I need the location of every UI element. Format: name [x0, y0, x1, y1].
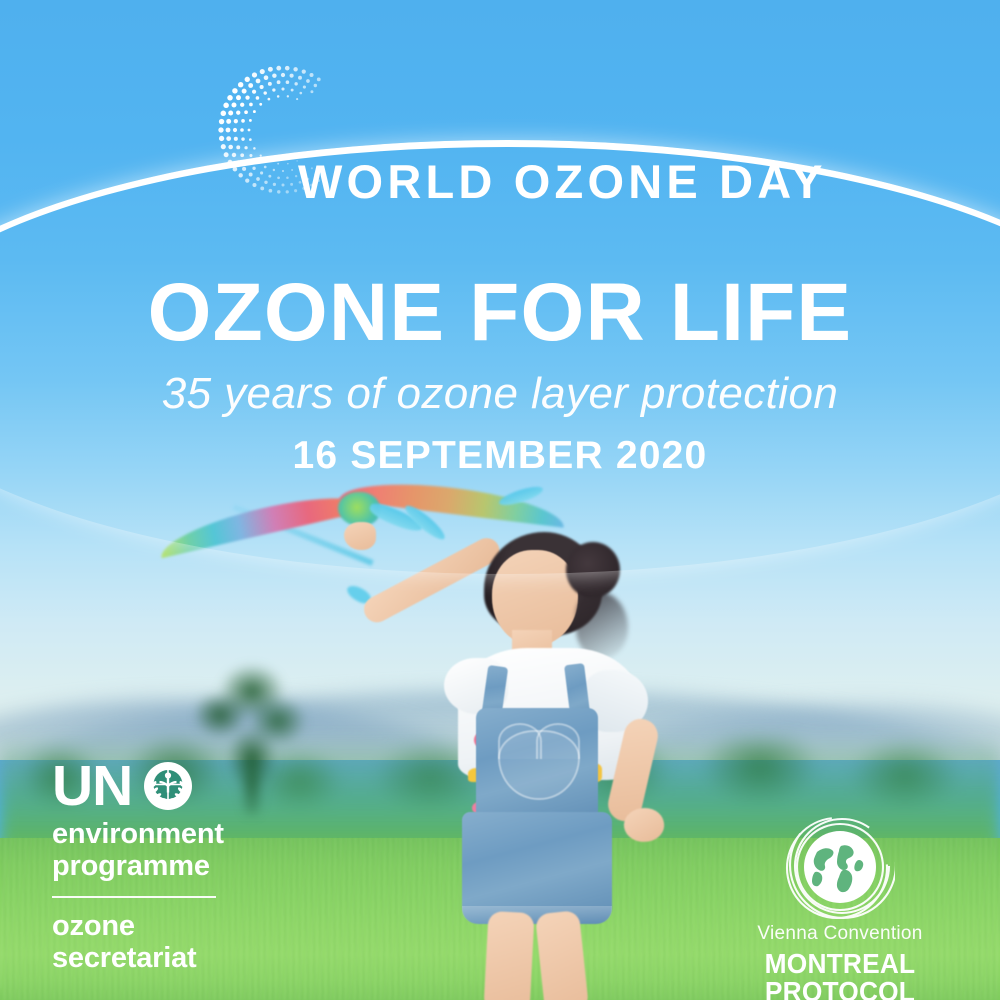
unep-divider: [52, 896, 216, 898]
un-wordmark: UN: [52, 758, 132, 815]
unep-line2: environment programme: [52, 818, 282, 883]
montreal-protocol-label: MONTREAL PROTOCOL: [708, 950, 971, 1000]
unep-logo: UN: [52, 758, 282, 975]
ozone-label: ozone: [52, 910, 282, 942]
vienna-convention-label: Vienna Convention: [700, 924, 980, 943]
unep-logo-top: UN: [52, 758, 282, 814]
unep-programme-label: programme: [52, 850, 282, 882]
secretariat-label: secretariat: [52, 942, 282, 974]
headline-text: OZONE FOR LIFE: [0, 272, 1000, 354]
montreal-protocol-logo: Vienna Convention MONTREAL PROTOCOL: [700, 812, 980, 1000]
leg-left: [483, 911, 534, 1000]
headline-block: OZONE FOR LIFE 35 years of ozone layer p…: [0, 272, 1000, 475]
campaign-brand-row: WORLD OZONE DAY: [0, 55, 1000, 205]
globe-swirl-emblem-icon: [785, 812, 895, 922]
unep-environment-label: environment: [52, 818, 282, 850]
un-laurel-emblem-icon: [142, 760, 194, 812]
unep-line3: ozone secretariat: [52, 910, 282, 975]
subhead-text: 35 years of ozone layer protection: [0, 372, 1000, 416]
campaign-title: WORLD OZONE DAY: [298, 158, 827, 205]
event-date: 16 SEPTEMBER 2020: [0, 436, 1000, 475]
world-ozone-day-poster: WORLD OZONE DAY OZONE FOR LIFE 35 years …: [0, 0, 1000, 1000]
child-figure: [400, 520, 730, 1000]
